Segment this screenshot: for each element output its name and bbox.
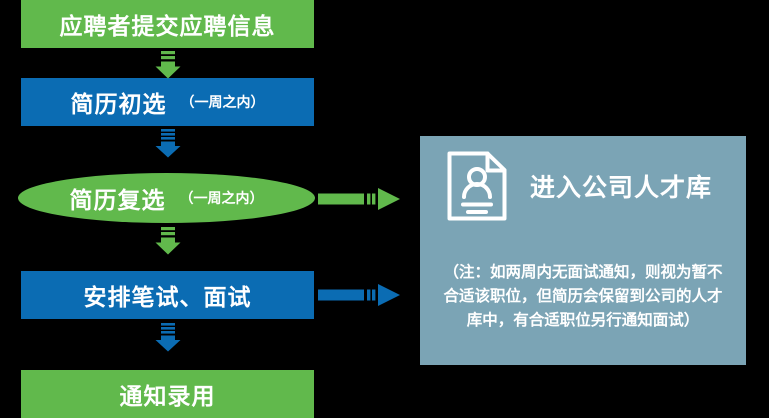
flow-node-screen2-label: 简历复选 <box>70 181 166 215</box>
flow-node-screen2[interactable]: 简历复选 （一周之内） <box>18 173 315 223</box>
flow-node-apply-label: 应聘者提交应聘信息 <box>60 7 276 41</box>
flow-node-exam-label: 安排笔试、面试 <box>84 278 252 312</box>
diagram-canvas: 应聘者提交应聘信息 简历初选 （一周之内） 简历复选 （一周之内） 安排笔试、面… <box>0 0 769 418</box>
talent-pool-panel: 进入公司人才库 （注：如两周内无面试通知，则视为暂不合适该职位，但简历会保留到公… <box>420 136 746 365</box>
arrow-down-icon-apply-to-screen1 <box>150 50 186 86</box>
arrow-down-icon-screen2-to-exam <box>150 226 186 262</box>
flow-node-offer[interactable]: 通知录用 <box>21 370 314 418</box>
arrow-down-icon-exam-to-offer <box>150 322 186 358</box>
flow-node-exam[interactable]: 安排笔试、面试 <box>21 271 314 319</box>
talent-pool-header: 进入公司人才库 <box>446 150 712 222</box>
flow-node-apply[interactable]: 应聘者提交应聘信息 <box>21 0 314 48</box>
document-person-icon <box>446 150 508 222</box>
arrow-down-icon-screen1-to-screen2 <box>150 128 186 164</box>
flow-node-screen1-label: 简历初选 <box>71 85 167 119</box>
flow-node-offer-label: 通知录用 <box>120 377 216 411</box>
arrow-right-icon-exam-to-talent-pool <box>318 281 402 309</box>
flow-node-screen2-sublabel: （一周之内） <box>180 188 264 208</box>
talent-pool-title: 进入公司人才库 <box>530 168 712 204</box>
flow-node-screen1-sublabel: （一周之内） <box>181 92 265 112</box>
talent-pool-note: （注：如两周内无面试通知，则视为暂不合适该职位，但简历会保留到公司的人才库中，有… <box>442 260 724 332</box>
arrow-right-icon-screen2-to-talent-pool <box>318 185 402 213</box>
